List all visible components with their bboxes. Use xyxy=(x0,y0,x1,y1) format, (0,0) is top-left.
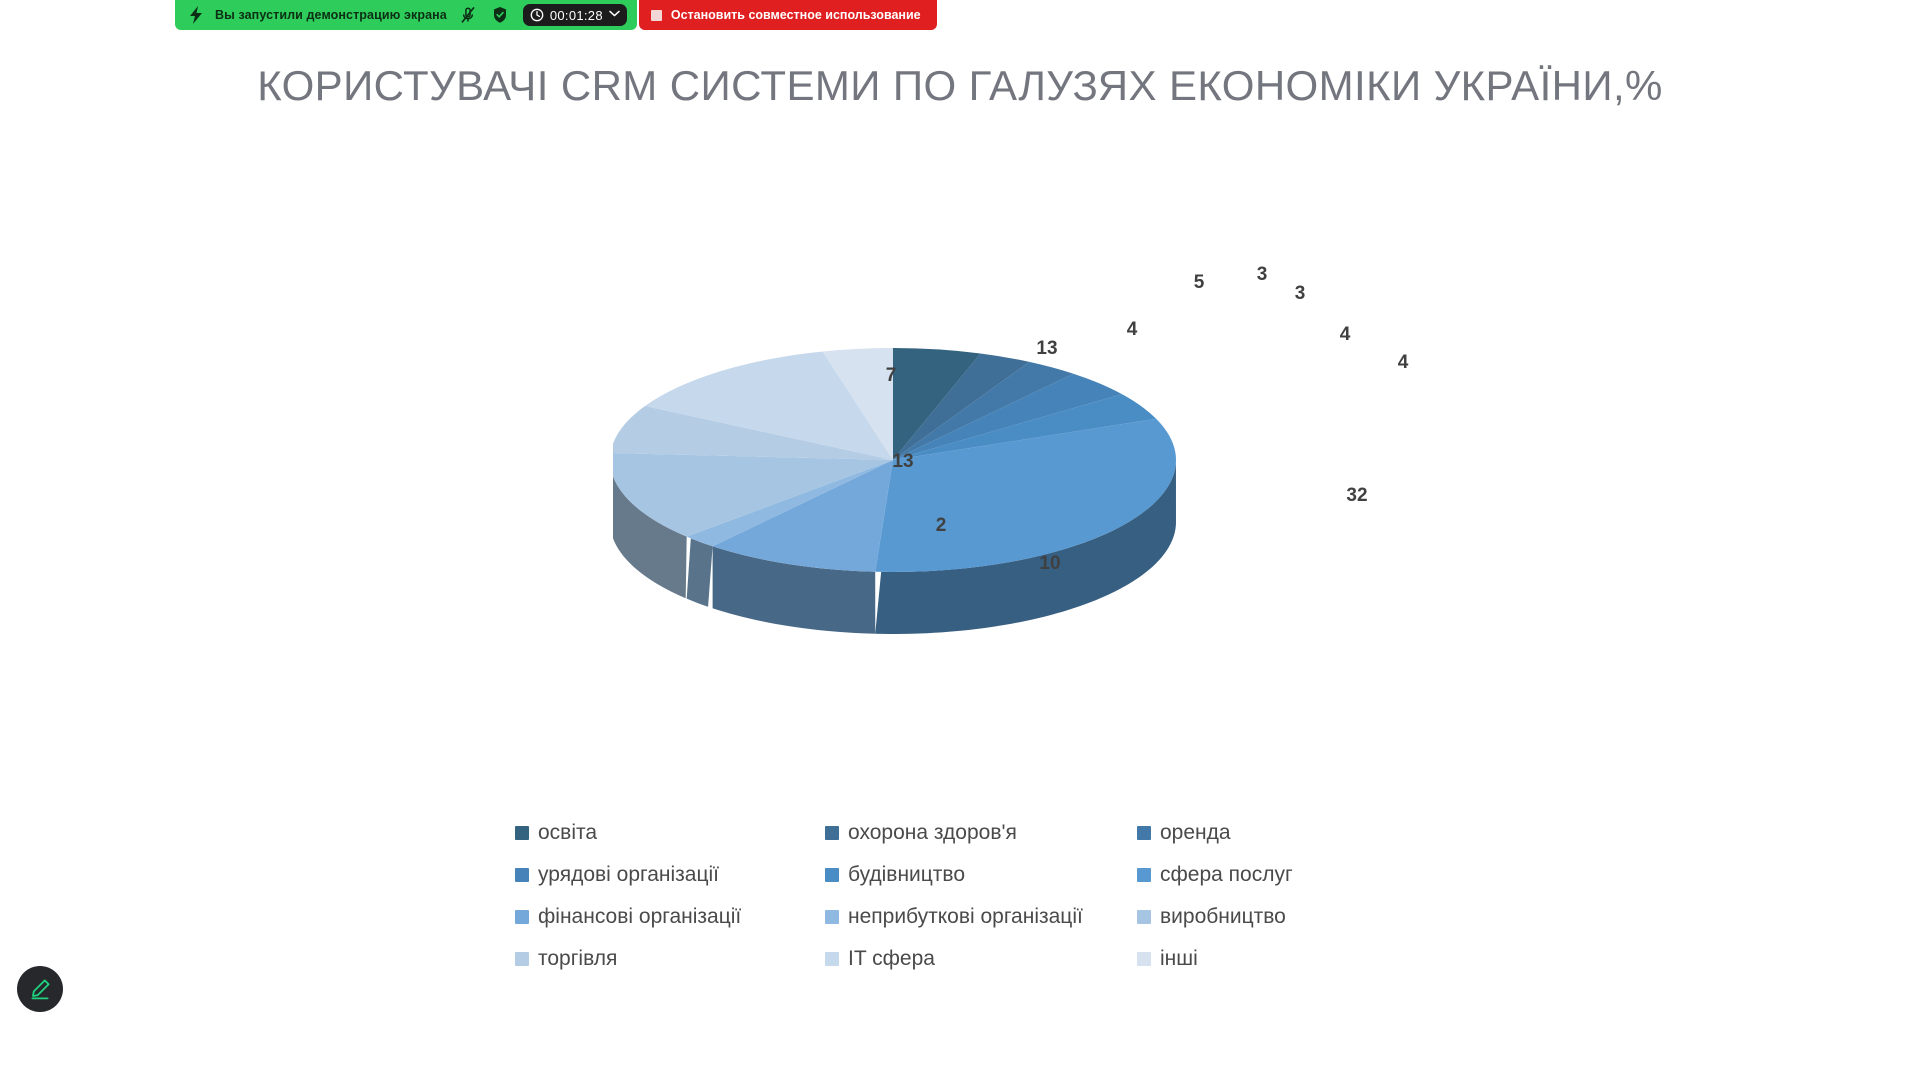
pie-data-label: 13 xyxy=(892,451,913,473)
legend-item[interactable]: сфера послуг xyxy=(1137,863,1355,887)
legend-item-label: торгівля xyxy=(538,947,617,971)
pie-data-label: 7 xyxy=(886,365,897,387)
legend-item[interactable]: торгівля xyxy=(515,947,825,971)
pie-data-label: 2 xyxy=(936,515,947,537)
clock-icon xyxy=(530,8,544,22)
legend-item-label: урядові організації xyxy=(538,863,719,887)
slide-page: Вы запустили демонстрацию экрана xyxy=(0,0,1920,1080)
share-timer-dropdown[interactable]: 00:01:28 xyxy=(523,4,627,26)
legend-item[interactable]: виробництво xyxy=(1137,905,1355,929)
legend-item-label: освіта xyxy=(538,821,597,845)
pie-data-label: 10 xyxy=(1039,553,1060,575)
chart-area: 5334432102137134 xyxy=(0,230,1920,750)
legend-item-label: охорона здоров'я xyxy=(848,821,1017,845)
microphone-muted-icon[interactable] xyxy=(457,4,479,26)
legend-swatch-icon xyxy=(825,952,839,966)
pie-chart: 5334432102137134 xyxy=(613,230,1323,660)
pencil-icon xyxy=(27,976,53,1002)
legend-swatch-icon xyxy=(515,868,529,882)
page-title: КОРИСТУВАЧІ CRM СИСТЕМИ ПО ГАЛУЗЯХ ЕКОНО… xyxy=(0,62,1920,110)
legend-item-label: будівництво xyxy=(848,863,965,887)
shield-check-icon[interactable] xyxy=(489,4,511,26)
chart-legend: освітаохорона здоров'яорендаурядові орга… xyxy=(515,812,1355,980)
legend-item-label: виробництво xyxy=(1160,905,1286,929)
pie-data-label: 3 xyxy=(1257,264,1268,286)
chevron-down-icon xyxy=(609,10,620,20)
legend-item-label: інші xyxy=(1160,947,1198,971)
pie-data-label: 5 xyxy=(1194,272,1205,294)
pie-chart-svg xyxy=(613,230,1323,660)
screen-share-toolbar: Вы запустили демонстрацию экрана xyxy=(175,0,937,30)
lightning-bolt-icon xyxy=(187,6,205,24)
legend-swatch-icon xyxy=(825,910,839,924)
legend-swatch-icon xyxy=(1137,868,1151,882)
pie-data-label: 4 xyxy=(1127,319,1138,341)
pie-data-label: 32 xyxy=(1346,485,1367,507)
stop-sharing-button[interactable]: Остановить совместное использование xyxy=(639,0,937,30)
legend-item[interactable]: IT сфера xyxy=(825,947,1137,971)
legend-swatch-icon xyxy=(825,868,839,882)
share-status-text: Вы запустили демонстрацию экрана xyxy=(215,8,447,22)
legend-swatch-icon xyxy=(825,826,839,840)
legend-item-label: неприбуткові організації xyxy=(848,905,1083,929)
pie-data-label: 4 xyxy=(1340,324,1351,346)
legend-item[interactable]: інші xyxy=(1137,947,1355,971)
legend-item[interactable]: будівництво xyxy=(825,863,1137,887)
legend-swatch-icon xyxy=(515,826,529,840)
legend-item[interactable]: фінансові організації xyxy=(515,905,825,929)
pie-data-label: 3 xyxy=(1295,283,1306,305)
legend-item[interactable]: урядові організації xyxy=(515,863,825,887)
pie-slice-side xyxy=(687,538,713,606)
legend-swatch-icon xyxy=(1137,826,1151,840)
legend-swatch-icon xyxy=(515,910,529,924)
pie-data-label: 4 xyxy=(1398,352,1409,374)
legend-item[interactable]: освіта xyxy=(515,821,825,845)
legend-swatch-icon xyxy=(1137,910,1151,924)
legend-swatch-icon xyxy=(1137,952,1151,966)
stop-square-icon xyxy=(651,10,662,21)
legend-item-label: сфера послуг xyxy=(1160,863,1293,887)
share-status-group: Вы запустили демонстрацию экрана xyxy=(175,0,637,30)
legend-item-label: оренда xyxy=(1160,821,1231,845)
pie-data-label: 13 xyxy=(1036,338,1057,360)
legend-item-label: фінансові організації xyxy=(538,905,741,929)
legend-item[interactable]: неприбуткові організації xyxy=(825,905,1137,929)
annotate-button[interactable] xyxy=(17,966,63,1012)
legend-item[interactable]: охорона здоров'я xyxy=(825,821,1137,845)
legend-item[interactable]: оренда xyxy=(1137,821,1355,845)
legend-swatch-icon xyxy=(515,952,529,966)
stop-sharing-label: Остановить совместное использование xyxy=(671,8,921,22)
legend-item-label: IT сфера xyxy=(848,947,935,971)
share-timer-value: 00:01:28 xyxy=(550,8,603,23)
